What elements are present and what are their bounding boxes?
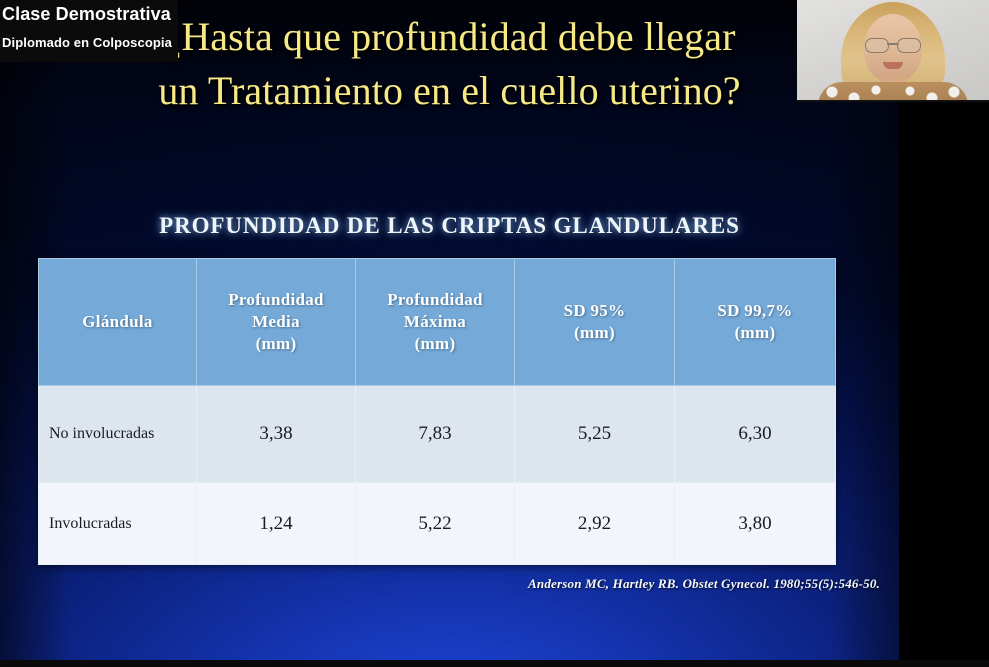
letterbox-bottom [0, 660, 989, 667]
cell-row1-maxima: 5,22 [356, 483, 515, 565]
table-header-row: Glándula Profundidad Media (mm) Profundi… [39, 259, 836, 386]
screen-capture: ¿Hasta que profundidad debe llegar un Tr… [0, 0, 989, 667]
table-row: No involucradas 3,38 7,83 5,25 6,30 [39, 386, 836, 483]
table-heading: PROFUNDIDAD DE LAS CRIPTAS GLANDULARES [0, 213, 899, 239]
presenter-video-tile[interactable] [797, 0, 989, 102]
banner-title: Clase Demostrativa [2, 2, 172, 26]
cell-row0-label: No involucradas [39, 386, 197, 483]
column-header-sd997: SD 99,7% (mm) [675, 259, 836, 386]
glasses-right-lens [897, 38, 921, 53]
cell-row1-media: 1,24 [197, 483, 356, 565]
cell-row0-sd997: 6,30 [675, 386, 836, 483]
cell-row0-maxima: 7,83 [356, 386, 515, 483]
course-banner: Clase Demostrativa Diplomado en Colposco… [0, 0, 178, 62]
banner-subtitle: Diplomado en Colposcopia [2, 32, 172, 54]
column-header-glandula: Glándula [39, 259, 197, 386]
presentation-slide: ¿Hasta que profundidad debe llegar un Tr… [0, 0, 899, 660]
glasses-icon [865, 38, 921, 51]
column-header-media: Profundidad Media (mm) [197, 259, 356, 386]
presenter-torso [818, 82, 968, 102]
cell-row0-sd95: 5,25 [515, 386, 675, 483]
cell-row1-sd997: 3,80 [675, 483, 836, 565]
cell-row0-media: 3,38 [197, 386, 356, 483]
column-header-maxima: Profundidad Máxima (mm) [356, 259, 515, 386]
table-row: Involucradas 1,24 5,22 2,92 3,80 [39, 483, 836, 565]
column-header-sd95: SD 95% (mm) [515, 259, 675, 386]
cell-row1-sd95: 2,92 [515, 483, 675, 565]
source-citation: Anderson MC, Hartley RB. Obstet Gynecol.… [0, 576, 880, 592]
cell-row1-label: Involucradas [39, 483, 197, 565]
crypt-depth-table: Glándula Profundidad Media (mm) Profundi… [38, 258, 836, 565]
glasses-left-lens [865, 38, 889, 53]
